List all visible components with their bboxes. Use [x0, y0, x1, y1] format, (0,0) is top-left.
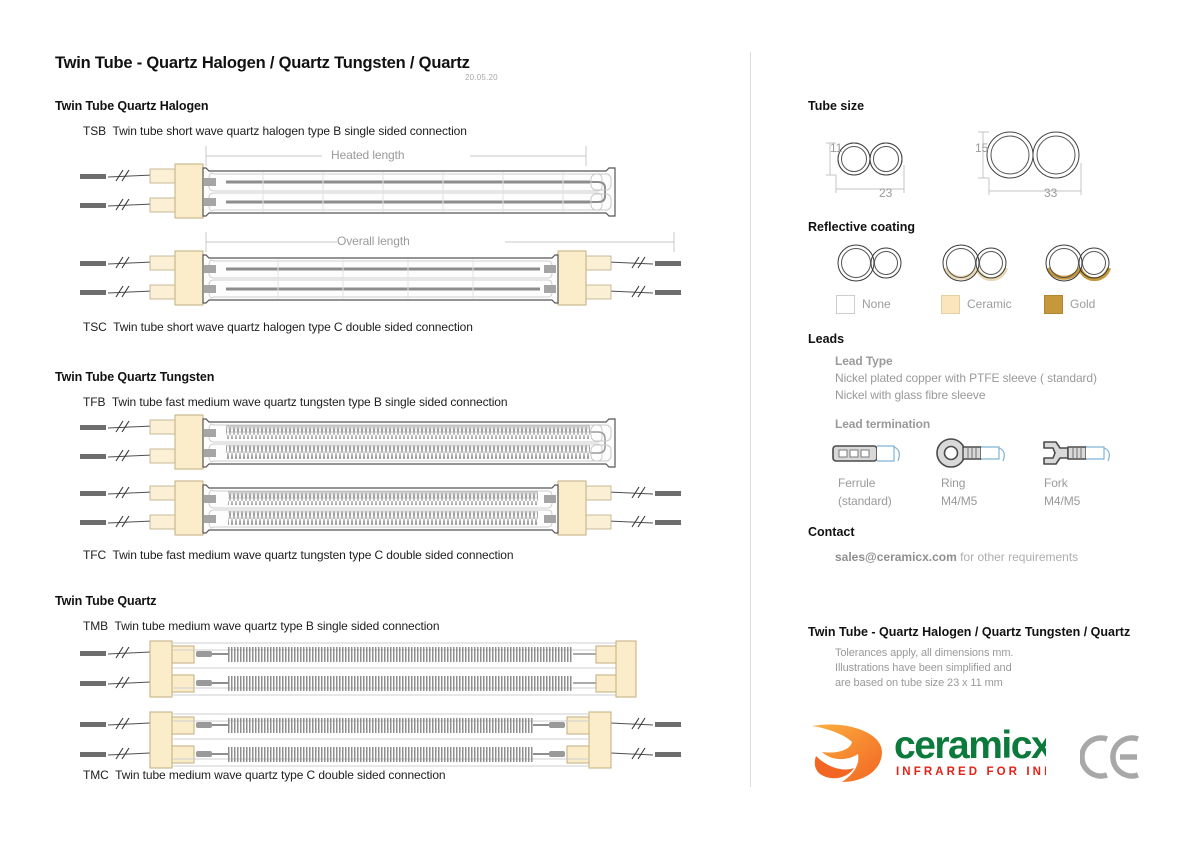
lamp-caption-tmc: TMC Twin tube medium wave quartz type C … — [83, 768, 445, 782]
coating-figure-gold — [1040, 242, 1120, 284]
coating-label-none: None — [862, 297, 891, 311]
lead-type-2: Nickel with glass fibre sleeve — [835, 388, 985, 402]
lead-type-1: Nickel plated copper with PTFE sleeve ( … — [835, 371, 1097, 385]
contact-line: sales@ceramicx.com for other requirement… — [835, 550, 1078, 564]
contact-email[interactable]: sales@ceramicx.com — [835, 550, 957, 564]
coating-label-ceramic: Ceramic — [967, 297, 1012, 311]
column-divider — [750, 52, 751, 787]
fork-terminal-icon[interactable] — [1040, 437, 1124, 469]
lamp-diagram-tsc — [78, 253, 683, 305]
lamp-desc-tsb: Twin tube short wave quartz halogen type… — [113, 124, 467, 138]
tube-size-width-2: 33 — [1044, 186, 1057, 200]
lamp-desc-tmb: Twin tube medium wave quartz type B sing… — [115, 619, 440, 633]
termination-spec-fork: M4/M5 — [1044, 494, 1080, 508]
section-heading-quartz-halogen: Twin Tube Quartz Halogen — [55, 99, 208, 113]
lamp-desc-tmc: Twin tube medium wave quartz type C doub… — [115, 768, 445, 782]
lamp-caption-tmb: TMB Twin tube medium wave quartz type B … — [83, 619, 439, 633]
lamp-code-tsc: TSC — [83, 320, 107, 334]
heading-contact: Contact — [808, 525, 855, 539]
footer-note-1: Tolerances apply, all dimensions mm. — [835, 647, 1013, 659]
lamp-diagram-tmb — [78, 641, 638, 697]
termination-spec-ring: M4/M5 — [941, 494, 977, 508]
page-title: Twin Tube - Quartz Halogen / Quartz Tung… — [55, 54, 470, 73]
lamp-desc-tfb: Twin tube fast medium wave quartz tungst… — [112, 395, 508, 409]
lamp-caption-tfb: TFB Twin tube fast medium wave quartz tu… — [83, 395, 507, 409]
tube-size-height-2: 15 — [975, 141, 988, 155]
lamp-diagram-tfc — [78, 483, 683, 535]
dimension-label-heated: Heated length — [331, 148, 404, 162]
footer-note-2: Illustrations have been simplified and — [835, 662, 1012, 674]
lamp-code-tfb: TFB — [83, 395, 105, 409]
dimension-overall-length — [205, 232, 675, 252]
coating-figure-ceramic — [937, 242, 1017, 284]
logo-tagline: INFRARED FOR INDUSTRY — [896, 766, 1046, 778]
contact-suffix: for other requirements — [957, 550, 1078, 564]
lamp-caption-tfc: TFC Twin tube fast medium wave quartz tu… — [83, 548, 513, 562]
ceramicx-logo: ceramicx INFRARED FOR INDUSTRY — [806, 712, 1046, 789]
heading-lead-termination: Lead termination — [835, 417, 930, 431]
coating-swatch-ceramic[interactable] — [941, 295, 960, 314]
lamp-diagram-tsb — [78, 166, 623, 218]
heading-tube-size: Tube size — [808, 99, 864, 113]
heading-reflective-coating: Reflective coating — [808, 220, 915, 234]
heading-leads: Leads — [808, 332, 844, 346]
revision-date: 20.05.20 — [465, 73, 498, 82]
coating-swatch-none[interactable] — [836, 295, 855, 314]
termination-label-ferrule: Ferrule — [838, 476, 875, 490]
lamp-code-tmc: TMC — [83, 768, 109, 782]
section-heading-quartz-tungsten: Twin Tube Quartz Tungsten — [55, 370, 214, 384]
tube-size-width-1: 23 — [879, 186, 892, 200]
lamp-code-tfc: TFC — [83, 548, 106, 562]
lamp-diagram-tmc — [78, 712, 683, 768]
footer-note-3: are based on tube size 23 x 11 mm — [835, 677, 1003, 689]
footer-title: Twin Tube - Quartz Halogen / Quartz Tung… — [808, 625, 1130, 639]
lamp-desc-tfc: Twin tube fast medium wave quartz tungst… — [113, 548, 514, 562]
ferrule-icon[interactable] — [832, 440, 912, 468]
coating-swatch-gold[interactable] — [1044, 295, 1063, 314]
lamp-code-tsb: TSB — [83, 124, 106, 138]
tube-size-height-1: 11 — [830, 141, 842, 155]
datasheet-page: Twin Tube - Quartz Halogen / Quartz Tung… — [0, 0, 1194, 842]
termination-label-ring: Ring — [941, 476, 965, 490]
dimension-label-overall: Overall length — [337, 234, 410, 248]
termination-spec-ferrule: (standard) — [838, 494, 892, 508]
lamp-caption-tsc: TSC Twin tube short wave quartz halogen … — [83, 320, 473, 334]
tube-size-diagram-large — [965, 118, 1115, 198]
lamp-diagram-tfb — [78, 417, 623, 469]
logo-wordmark: ceramicx — [894, 724, 1046, 767]
heading-lead-type: Lead Type — [835, 354, 893, 368]
lamp-desc-tsc: Twin tube short wave quartz halogen type… — [113, 320, 473, 334]
coating-figure-none — [832, 242, 912, 284]
coating-label-gold: Gold — [1070, 297, 1095, 311]
lamp-caption-tsb: TSB Twin tube short wave quartz halogen … — [83, 124, 467, 138]
lamp-code-tmb: TMB — [83, 619, 108, 633]
ring-terminal-icon[interactable] — [935, 437, 1019, 469]
tube-size-diagram-small — [820, 125, 940, 195]
ce-mark-icon — [1080, 733, 1142, 786]
section-heading-quartz: Twin Tube Quartz — [55, 594, 156, 608]
termination-label-fork: Fork — [1044, 476, 1068, 490]
